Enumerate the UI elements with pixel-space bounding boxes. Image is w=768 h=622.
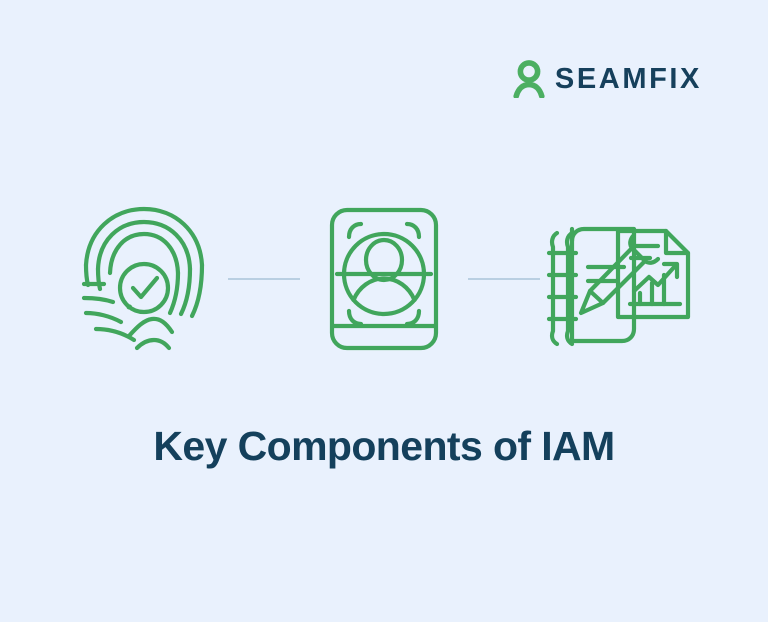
diagram-node-identity-credential (319, 199, 449, 359)
slide-canvas: SEAMFIX (0, 0, 768, 622)
diagram-node-audit-reporting (559, 199, 689, 359)
components-diagram (0, 199, 768, 359)
id-card-face-scan-icon (328, 206, 440, 352)
brand-logo: SEAMFIX (512, 58, 702, 100)
diagram-node-identity-verification (79, 199, 209, 359)
notebook-pen-report-chart-icon (546, 213, 702, 345)
diagram-connector-2 (468, 278, 540, 280)
diagram-connector-1 (228, 278, 300, 280)
fingerprint-check-icon (82, 203, 206, 355)
brand-name: SEAMFIX (555, 65, 702, 94)
page-title: Key Components of IAM (0, 421, 768, 472)
seamfix-person-mark-icon (512, 60, 546, 98)
